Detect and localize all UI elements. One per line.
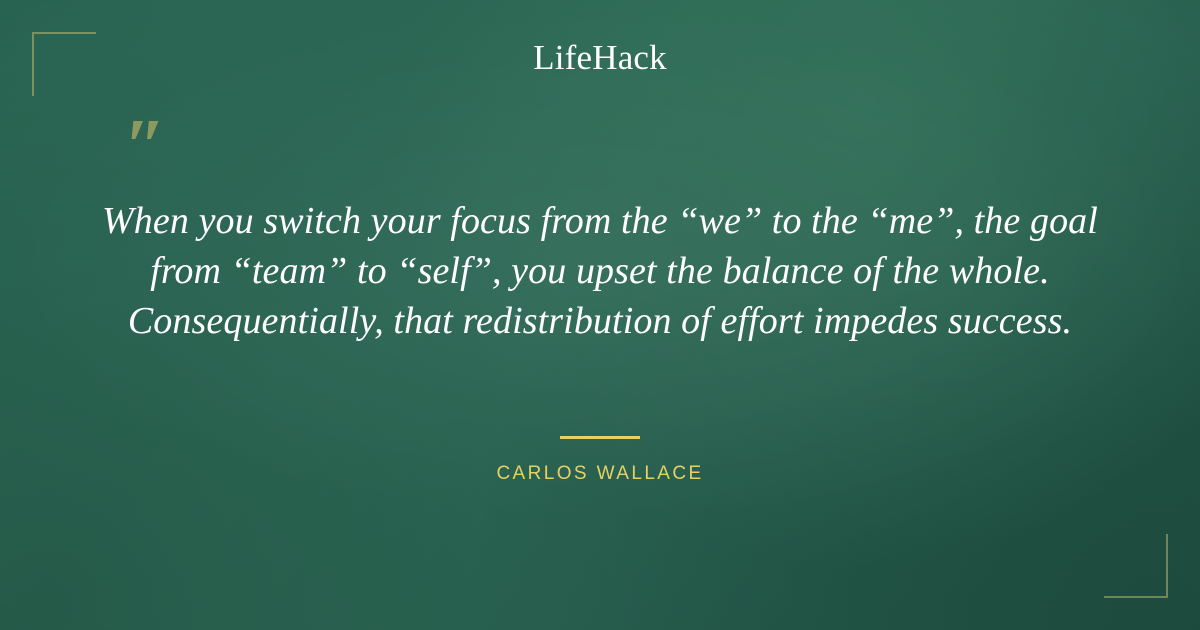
quote-author: CARLOS WALLACE (0, 464, 1200, 483)
quotation-mark-icon: ″ (124, 108, 164, 184)
quote-text: When you switch your focus from the “we”… (96, 196, 1104, 346)
attribution-divider (560, 436, 640, 439)
brand-logo: LifeHack (0, 40, 1200, 75)
quote-container: When you switch your focus from the “we”… (96, 196, 1104, 346)
quote-card: LifeHack ″ When you switch your focus fr… (0, 0, 1200, 630)
corner-bracket-bottom-right-icon (1104, 534, 1168, 598)
